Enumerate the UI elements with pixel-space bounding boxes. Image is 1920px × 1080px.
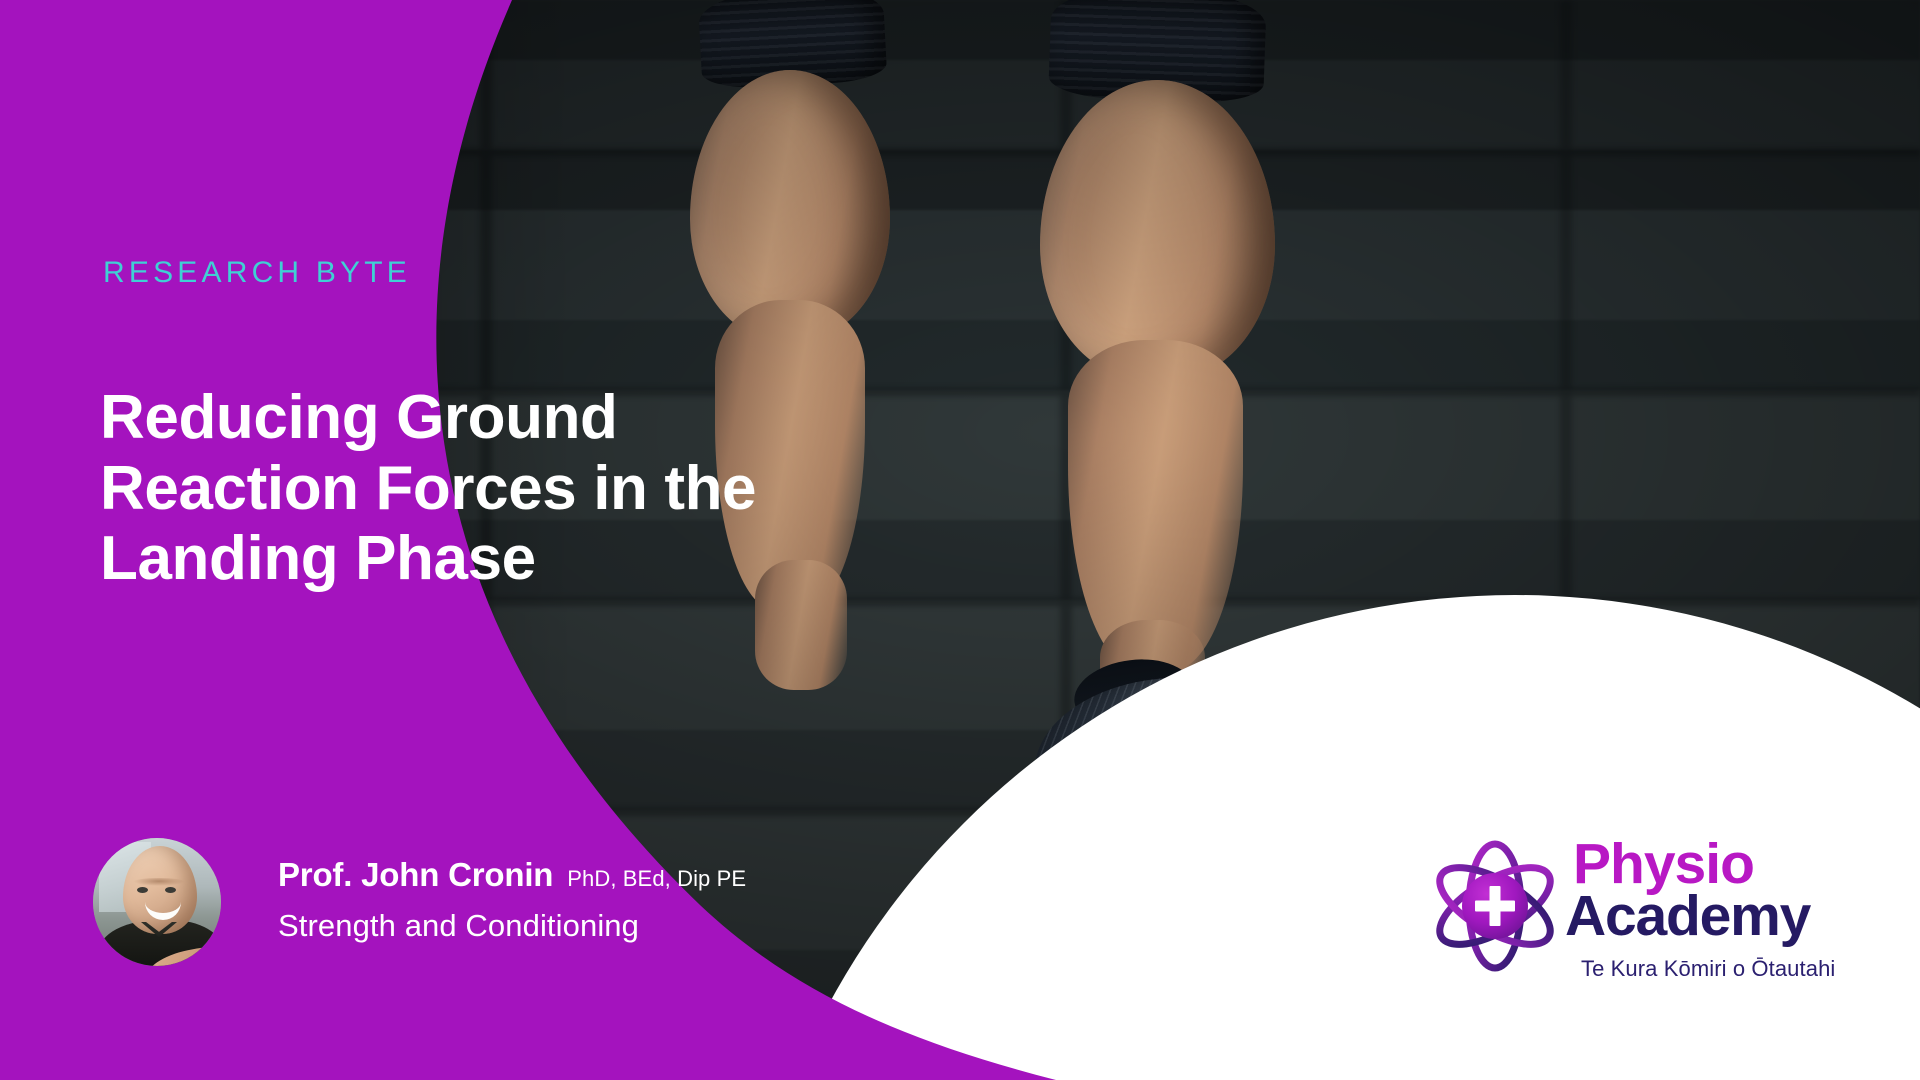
avatar-eye-left: [137, 887, 148, 893]
author-credentials: PhD, BEd, Dip PE: [567, 866, 746, 891]
avatar: [93, 838, 221, 966]
logo-word-academy: Academy: [1565, 888, 1810, 945]
slide-content: RESEARCH BYTE Reducing Ground Reaction F…: [0, 0, 1920, 1080]
atom-plus-icon: [1425, 836, 1565, 976]
logo-tagline: Te Kura Kōmiri o Ōtautahi: [1581, 956, 1835, 982]
author-name: Prof. John Cronin: [278, 856, 553, 893]
eyebrow-label: RESEARCH BYTE: [103, 258, 411, 288]
presentation-slide: RESEARCH BYTE Reducing Ground Reaction F…: [0, 0, 1920, 1080]
slide-title: Reducing Ground Reaction Forces in the L…: [100, 383, 1000, 595]
logo-wordmark: Physio Academy Te Kura Kōmiri o Ōtautahi: [1573, 830, 1845, 1000]
avatar-eye-right: [165, 887, 176, 893]
title-line-2: Reaction Forces in the: [100, 454, 1000, 525]
author-block: Prof. John CroninPhD, BEd, Dip PE Streng…: [93, 838, 853, 978]
title-line-1: Reducing Ground: [100, 383, 1000, 454]
avatar-brow: [133, 878, 185, 886]
title-line-3: Landing Phase: [100, 524, 1000, 595]
author-name-line: Prof. John CroninPhD, BEd, Dip PE: [278, 856, 746, 894]
author-role: Strength and Conditioning: [278, 908, 639, 944]
physio-academy-logo: Physio Academy Te Kura Kōmiri o Ōtautahi: [1425, 830, 1845, 1000]
